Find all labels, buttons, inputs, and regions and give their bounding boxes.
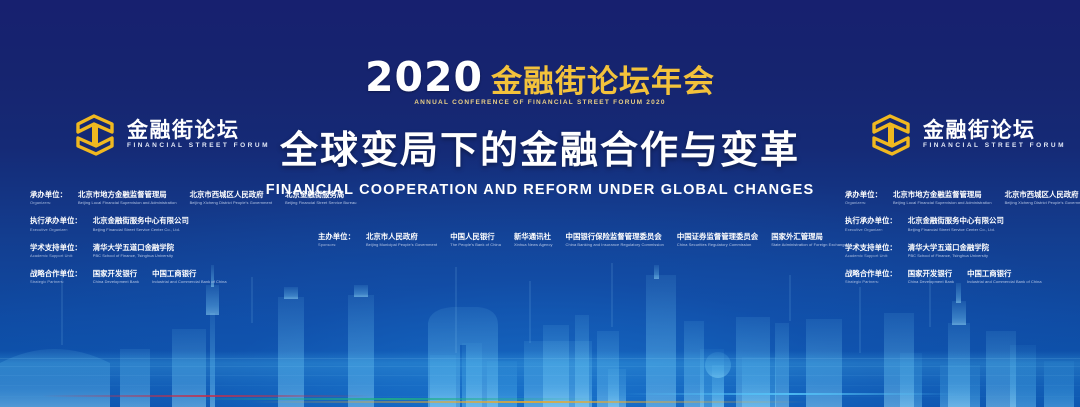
credit-entry: 北京市人民政府Beijing Municipal People's Govern… bbox=[366, 232, 437, 247]
credit-entry-english: Beijing Financial Street Service Bureau bbox=[285, 200, 356, 205]
event-title-row: 2020 金融街论坛年会 bbox=[0, 57, 1080, 98]
credit-label-english: Strategic Partners: bbox=[30, 279, 64, 284]
credit-label-chinese: 执行承办单位： bbox=[845, 216, 897, 225]
credit-entry-chinese: 中国银行保险监督管理委员会 bbox=[566, 232, 662, 241]
credit-entry-chinese: 清华大学五道口金融学院 bbox=[93, 243, 174, 252]
credit-entry-english: Beijing Financial Street Service Center … bbox=[908, 227, 995, 232]
credit-entry-chinese: 北京金融街服务中心有限公司 bbox=[93, 216, 189, 225]
credit-entry: 中国人民银行The People's Bank of China bbox=[450, 232, 501, 247]
credit-entry: 北京金融街服务局Beijing Financial Street Service… bbox=[285, 190, 356, 205]
credit-entry-chinese: 中国证券监督管理委员会 bbox=[677, 232, 758, 241]
credit-label-english: Academic Support Unit: bbox=[30, 253, 73, 258]
forum-logo-name-chinese: 金融街论坛 bbox=[923, 120, 1066, 141]
forum-logo-left: 金融街论坛 FINANCIAL STREET FORUM bbox=[72, 112, 270, 158]
forum-logo-mark-icon bbox=[72, 112, 118, 158]
event-year: 2020 bbox=[365, 57, 483, 98]
credit-entry-english: PBC School of Finance, Tsinghua Universi… bbox=[908, 253, 988, 258]
credit-row: 战略合作单位：Strategic Partners:国家开发银行China De… bbox=[845, 269, 1080, 284]
credit-label-english: Sponsors: bbox=[318, 242, 336, 247]
credit-entry: 北京金融街服务中心有限公司Beijing Financial Street Se… bbox=[93, 216, 189, 231]
credit-row: 承办单位：Organizers:北京市地方金融监督管理局Beijing Loca… bbox=[30, 190, 357, 205]
forum-logo-name-english: FINANCIAL STREET FORUM bbox=[127, 143, 270, 150]
credit-entry-chinese: 北京金融街服务中心有限公司 bbox=[908, 216, 1004, 225]
credits-block-center: 主办单位：Sponsors:北京市人民政府Beijing Municipal P… bbox=[318, 232, 847, 247]
credit-entry: 北京市西城区人民政府Beijing Xicheng District Peopl… bbox=[190, 190, 273, 205]
credit-entry: 北京金融街服务中心有限公司Beijing Financial Street Se… bbox=[908, 216, 1004, 231]
credit-entry-chinese: 中国工商银行 bbox=[967, 269, 1011, 278]
credit-row: 战略合作单位：Strategic Partners:国家开发银行China De… bbox=[30, 269, 357, 284]
credit-entry-chinese: 中国工商银行 bbox=[152, 269, 196, 278]
credit-entry-chinese: 北京市地方金融监督管理局 bbox=[893, 190, 982, 199]
credit-entry-english: China Banking and Insurance Regulatory C… bbox=[566, 242, 664, 247]
credit-label-english: Executive Organizer: bbox=[845, 227, 883, 232]
credit-label-chinese: 战略合作单位： bbox=[845, 269, 897, 278]
credit-label-english: Organizers: bbox=[845, 200, 866, 205]
credit-entry: 中国工商银行Industrial and Commercial Bank of … bbox=[152, 269, 227, 284]
credit-entry-chinese: 北京市人民政府 bbox=[366, 232, 418, 241]
credit-entry: 国家开发银行China Development Bank bbox=[908, 269, 954, 284]
credit-entry-chinese: 国家外汇管理局 bbox=[771, 232, 823, 241]
credit-entry-chinese: 国家开发银行 bbox=[908, 269, 952, 278]
credit-entry: 中国证券监督管理委员会China Securities Regulatory C… bbox=[677, 232, 758, 247]
credit-entry-english: Industrial and Commercial Bank of China bbox=[967, 279, 1042, 284]
credit-label-chinese: 执行承办单位： bbox=[30, 216, 82, 225]
credit-entry-english: Industrial and Commercial Bank of China bbox=[152, 279, 227, 284]
perspective-ground bbox=[0, 351, 1080, 407]
credit-entry-english: China Securities Regulatory Commission bbox=[677, 242, 752, 247]
credit-label-english: Academic Support Unit: bbox=[845, 253, 888, 258]
credit-entry: 国家外汇管理局State Administration of Foreign E… bbox=[771, 232, 847, 247]
credit-entry-english: PBC School of Finance, Tsinghua Universi… bbox=[93, 253, 173, 258]
credit-entry-chinese: 北京金融街服务局 bbox=[285, 190, 344, 199]
credit-entry-chinese: 北京市西城区人民政府 bbox=[190, 190, 264, 199]
credit-label-english: Executive Organizer: bbox=[30, 227, 68, 232]
credit-entry-chinese: 清华大学五道口金融学院 bbox=[908, 243, 989, 252]
credit-entry-chinese: 国家开发银行 bbox=[93, 269, 137, 278]
credit-label-chinese: 战略合作单位： bbox=[30, 269, 82, 278]
credit-label: 学术支持单位：Academic Support Unit: bbox=[30, 243, 82, 258]
credit-label: 执行承办单位：Executive Organizer: bbox=[845, 216, 897, 231]
credit-label-chinese: 学术支持单位： bbox=[30, 243, 82, 252]
credit-label-chinese: 承办单位： bbox=[845, 190, 882, 199]
credit-entry-english: Beijing Local Financial Supervision and … bbox=[893, 200, 992, 205]
credit-entry-chinese: 新华通讯社 bbox=[514, 232, 551, 241]
conference-backdrop-banner: 2020 金融街论坛年会 ANNUAL CONFERENCE OF FINANC… bbox=[0, 0, 1080, 407]
credit-entry: 北京市地方金融监督管理局Beijing Local Financial Supe… bbox=[893, 190, 992, 205]
credit-label: 战略合作单位：Strategic Partners: bbox=[30, 269, 82, 284]
credit-entry-chinese: 北京市地方金融监督管理局 bbox=[78, 190, 167, 199]
event-title-english: ANNUAL CONFERENCE OF FINANCIAL STREET FO… bbox=[0, 99, 1080, 106]
credit-entry-english: Beijing Xicheng District People's Govern… bbox=[190, 200, 273, 205]
credit-entry-english: Beijing Xicheng District People's Govern… bbox=[1005, 200, 1080, 205]
event-title-chinese: 金融街论坛年会 bbox=[491, 67, 715, 98]
credit-entry: 北京市地方金融监督管理局Beijing Local Financial Supe… bbox=[78, 190, 177, 205]
credit-label-chinese: 主办单位： bbox=[318, 232, 355, 241]
credit-entry: 新华通讯社Xinhua News Agency bbox=[514, 232, 553, 247]
credit-entry-chinese: 中国人民银行 bbox=[450, 232, 494, 241]
forum-logo-mark-icon bbox=[868, 112, 914, 158]
credit-label: 主办单位：Sponsors: bbox=[318, 232, 355, 247]
credit-entry-english: Beijing Municipal People's Government bbox=[366, 242, 437, 247]
credit-label: 学术支持单位：Academic Support Unit: bbox=[845, 243, 897, 258]
credit-row: 学术支持单位：Academic Support Unit:清华大学五道口金融学院… bbox=[30, 243, 357, 258]
credit-label: 承办单位：Organizers: bbox=[30, 190, 67, 205]
forum-logo-name-chinese: 金融街论坛 bbox=[127, 120, 270, 141]
credits-block-right: 承办单位：Organizers:北京市地方金融监督管理局Beijing Loca… bbox=[845, 190, 1080, 295]
credit-row: 主办单位：Sponsors:北京市人民政府Beijing Municipal P… bbox=[318, 232, 847, 247]
credit-entry: 清华大学五道口金融学院PBC School of Finance, Tsingh… bbox=[908, 243, 989, 258]
credit-entry-english: Beijing Financial Street Service Center … bbox=[93, 227, 180, 232]
credit-entry-english: The People's Bank of China bbox=[450, 242, 501, 247]
credit-entry: 国家开发银行China Development Bank bbox=[93, 269, 139, 284]
credit-entry-english: State Administration of Foreign Exchange bbox=[771, 242, 847, 247]
credit-label: 战略合作单位：Strategic Partners: bbox=[845, 269, 897, 284]
credits-block-left: 承办单位：Organizers:北京市地方金融监督管理局Beijing Loca… bbox=[30, 190, 357, 295]
credit-entry: 北京市西城区人民政府Beijing Xicheng District Peopl… bbox=[1005, 190, 1080, 205]
credit-entry-chinese: 北京市西城区人民政府 bbox=[1005, 190, 1079, 199]
credit-label-chinese: 承办单位： bbox=[30, 190, 67, 199]
forum-logo-right: 金融街论坛 FINANCIAL STREET FORUM bbox=[868, 112, 1066, 158]
credit-entry: 中国工商银行Industrial and Commercial Bank of … bbox=[967, 269, 1042, 284]
credit-entry: 清华大学五道口金融学院PBC School of Finance, Tsingh… bbox=[93, 243, 174, 258]
credit-label: 承办单位：Organizers: bbox=[845, 190, 882, 205]
credit-entry-english: China Development Bank bbox=[908, 279, 954, 284]
credit-label-english: Strategic Partners: bbox=[845, 279, 879, 284]
credit-entry-english: Xinhua News Agency bbox=[514, 242, 553, 247]
credit-row: 执行承办单位：Executive Organizer:北京金融街服务中心有限公司… bbox=[30, 216, 357, 231]
forum-logo-name-english: FINANCIAL STREET FORUM bbox=[923, 143, 1066, 150]
credit-row: 学术支持单位：Academic Support Unit:清华大学五道口金融学院… bbox=[845, 243, 1080, 258]
credit-label-chinese: 学术支持单位： bbox=[845, 243, 897, 252]
credit-row: 承办单位：Organizers:北京市地方金融监督管理局Beijing Loca… bbox=[845, 190, 1080, 205]
credit-entry-english: Beijing Local Financial Supervision and … bbox=[78, 200, 177, 205]
credit-entry: 中国银行保险监督管理委员会China Banking and Insurance… bbox=[566, 232, 664, 247]
credit-entry-english: China Development Bank bbox=[93, 279, 139, 284]
credit-label: 执行承办单位：Executive Organizer: bbox=[30, 216, 82, 231]
credit-label-english: Organizers: bbox=[30, 200, 51, 205]
credit-row: 执行承办单位：Executive Organizer:北京金融街服务中心有限公司… bbox=[845, 216, 1080, 231]
